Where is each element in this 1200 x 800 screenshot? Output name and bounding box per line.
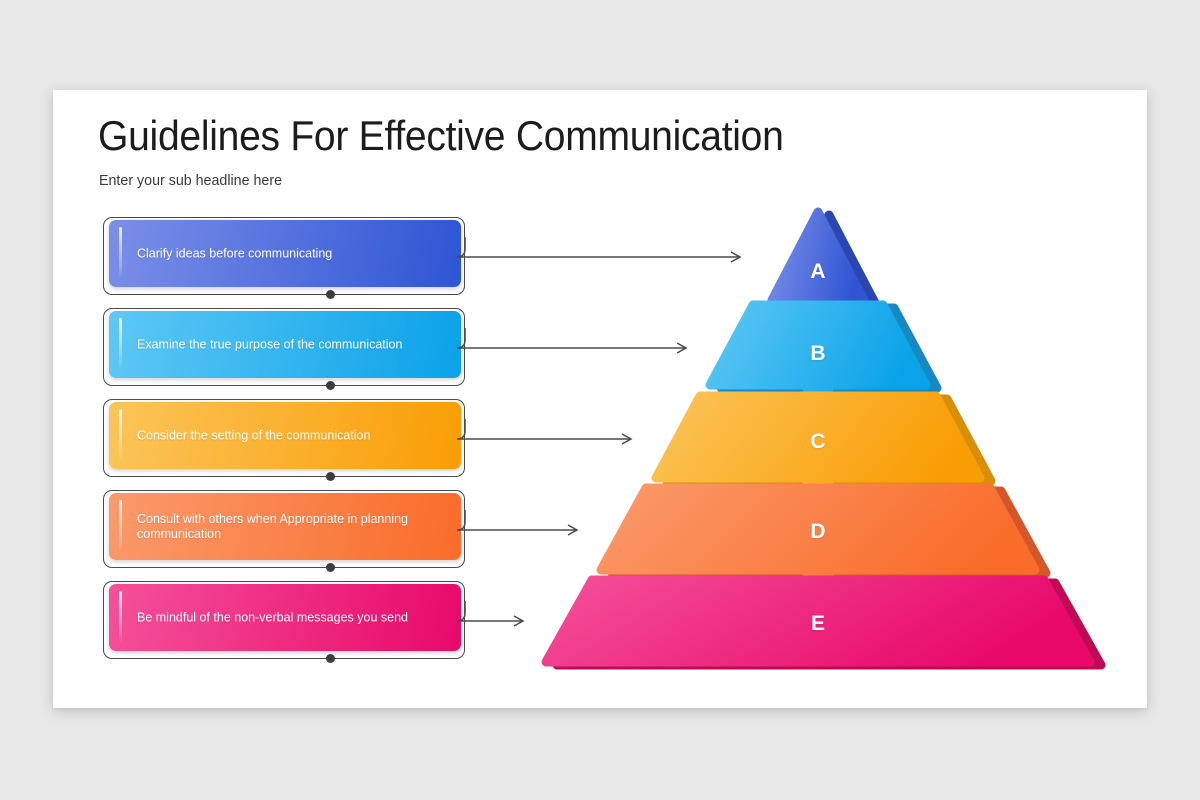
tier-letter-e: E: [798, 612, 838, 636]
tier-letter-c: C: [798, 430, 838, 454]
slide-card: Guidelines For Effective Communication E…: [53, 90, 1147, 708]
tier-letter-d: D: [798, 520, 838, 544]
pyramid-chart: ABCDE: [53, 90, 1147, 708]
tier-letter-b: B: [798, 342, 838, 366]
tier-letter-a: A: [798, 260, 838, 284]
